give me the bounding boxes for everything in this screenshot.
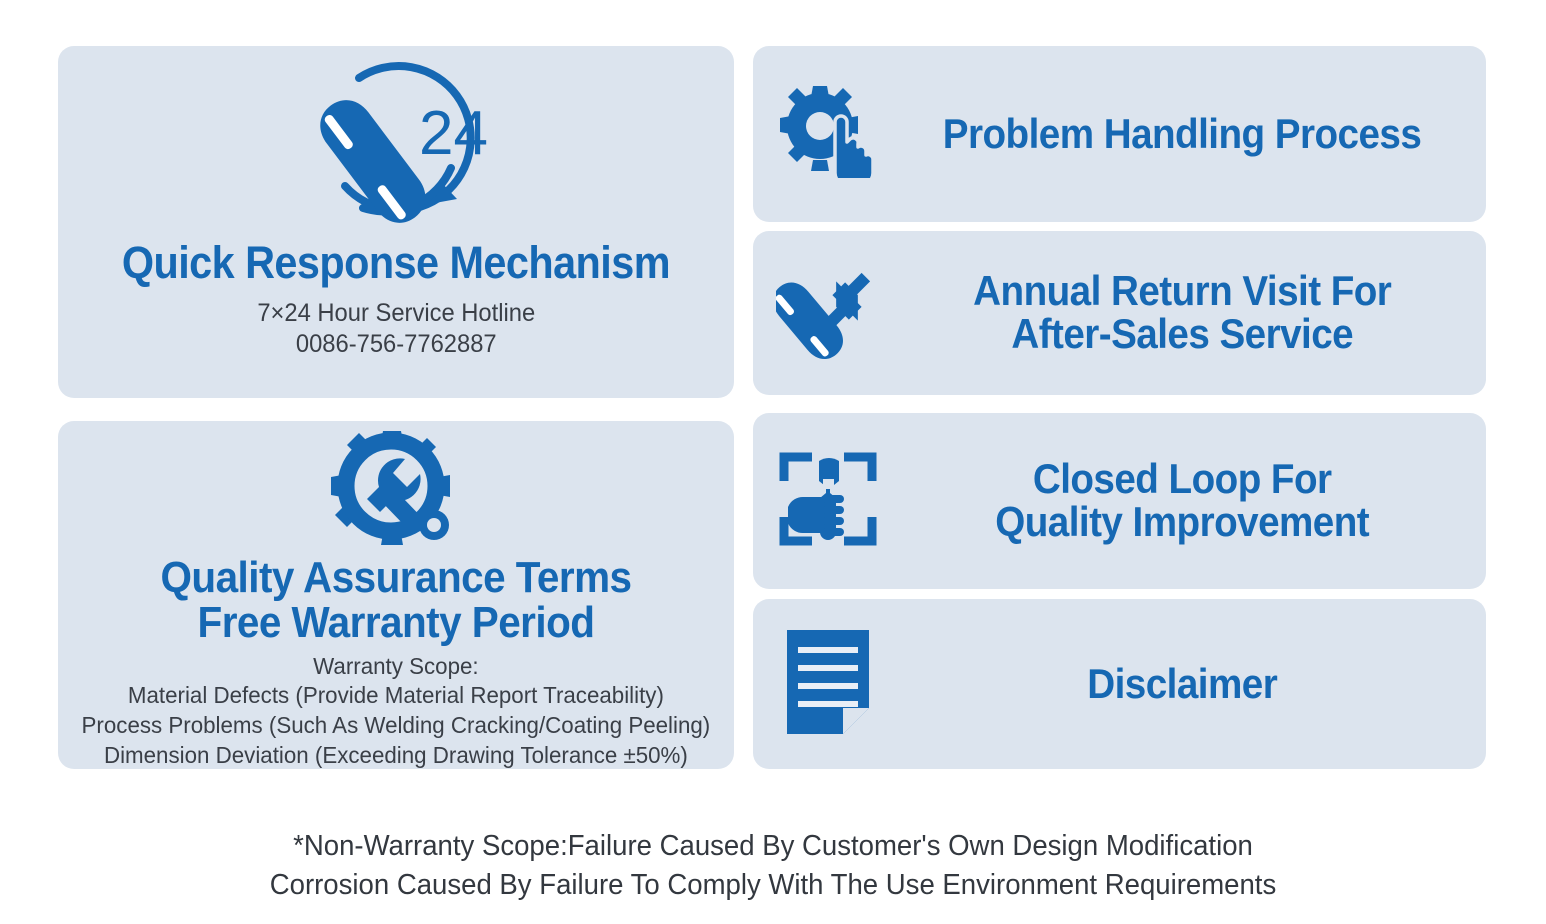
gear-hand-click-icon	[780, 86, 876, 183]
card-annual-return-visit: Annual Return Visit For After-Sales Serv…	[753, 231, 1486, 395]
card-problem-handling-title: Problem Handling Process	[943, 113, 1421, 156]
card-problem-handling-text-slot: Problem Handling Process	[903, 113, 1486, 156]
card-problem-handling-content: Problem Handling Process	[753, 46, 1486, 222]
card-quick-response-content: 24 Quick Response Mechanism 7×24 Hour Se…	[58, 46, 734, 398]
phone-arrows-icon-slot	[753, 262, 903, 365]
card-disclaimer: Disclaimer	[753, 599, 1486, 769]
hours-label: 24	[419, 99, 488, 168]
hand-wrench-frame-icon-slot	[753, 451, 903, 552]
gear-wrench-icon	[331, 431, 461, 554]
gear-hand-click-icon-slot	[753, 86, 903, 183]
card-disclaimer-title: Disclaimer	[1088, 663, 1278, 706]
card-quality-assurance: Quality Assurance Terms Free Warranty Pe…	[58, 421, 734, 769]
document-lines-icon	[787, 630, 869, 739]
card-disclaimer-content: Disclaimer	[753, 599, 1486, 769]
card-disclaimer-text-slot: Disclaimer	[903, 663, 1486, 706]
card-quality-assurance-title: Quality Assurance Terms Free Warranty Pe…	[160, 556, 631, 646]
card-quality-assurance-content: Quality Assurance Terms Free Warranty Pe…	[58, 421, 734, 769]
card-closed-loop-text-slot: Closed Loop For Quality Improvement	[903, 458, 1486, 544]
card-closed-loop-content: Closed Loop For Quality Improvement	[753, 413, 1486, 589]
card-quick-response: 24 Quick Response Mechanism 7×24 Hour Se…	[58, 46, 734, 398]
document-lines-icon-slot	[753, 630, 903, 739]
infographic-page: 24 Quick Response Mechanism 7×24 Hour Se…	[0, 0, 1546, 924]
card-problem-handling: Problem Handling Process	[753, 46, 1486, 222]
card-annual-return-visit-text-slot: Annual Return Visit For After-Sales Serv…	[903, 270, 1486, 356]
non-warranty-note: *Non-Warranty Scope:Failure Caused By Cu…	[39, 827, 1508, 905]
card-quality-assurance-subtext: Warranty Scope: Material Defects (Provid…	[82, 652, 711, 770]
card-annual-return-visit-title: Annual Return Visit For After-Sales Serv…	[973, 270, 1391, 356]
hand-wrench-frame-icon	[778, 451, 878, 552]
card-annual-return-visit-content: Annual Return Visit For After-Sales Serv…	[753, 231, 1486, 395]
card-quick-response-subtext: 7×24 Hour Service Hotline 0086-756-77628…	[257, 298, 535, 361]
card-closed-loop-title: Closed Loop For Quality Improvement	[996, 458, 1370, 544]
card-closed-loop: Closed Loop For Quality Improvement	[753, 413, 1486, 589]
phone-24h-icon: 24	[301, 56, 491, 236]
phone-arrows-icon	[776, 262, 880, 365]
card-quick-response-title: Quick Response Mechanism	[122, 240, 670, 286]
